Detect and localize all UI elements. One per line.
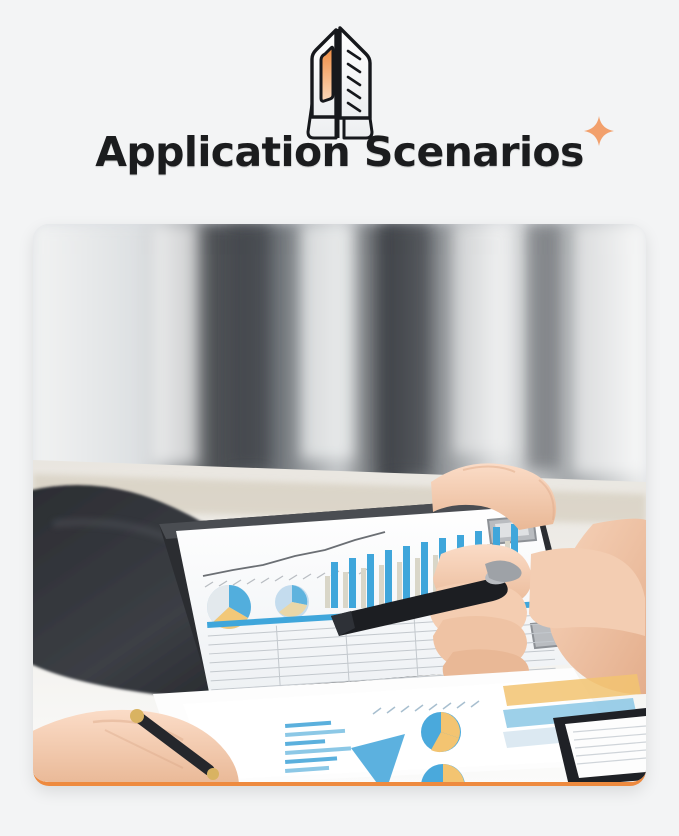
page-title: Application Scenarios <box>95 128 584 176</box>
page-title-row: Application Scenarios <box>0 128 679 176</box>
building-icon <box>274 22 406 140</box>
scenario-photo-card: Document Contract Phot <box>33 224 646 786</box>
photo-illustration <box>33 224 646 782</box>
scenario-photo <box>33 224 646 782</box>
page-header: Application Scenarios <box>0 0 679 215</box>
sparkle-icon <box>584 116 614 146</box>
